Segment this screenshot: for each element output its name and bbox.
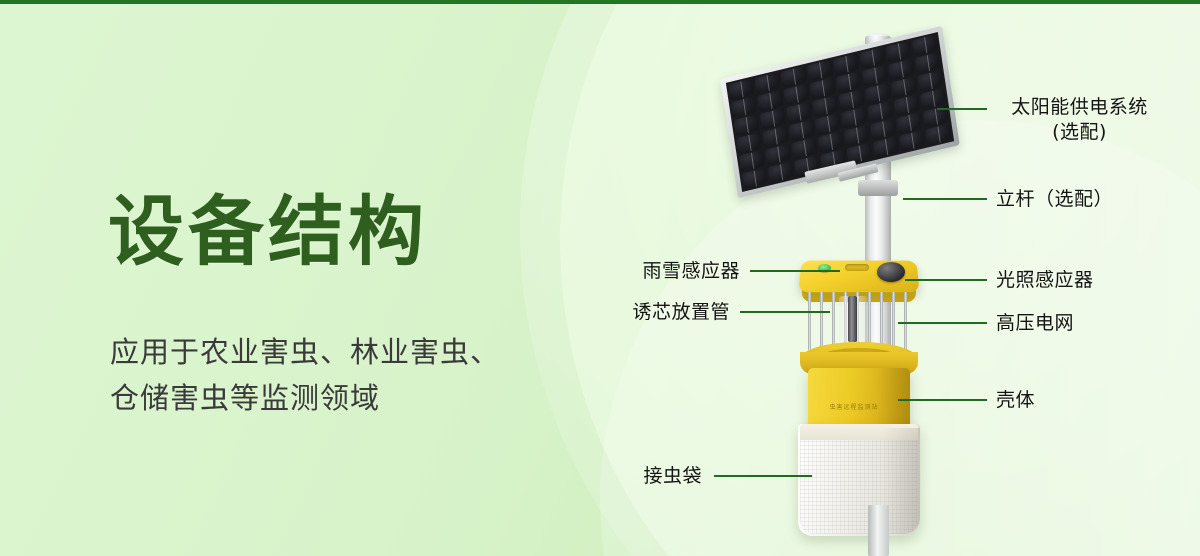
- subtitle-line-2: 仓储害虫等监测领域: [110, 376, 580, 422]
- subtitle-line-1: 应用于农业害虫、林业害虫、: [110, 330, 580, 376]
- light-sensor-icon: [877, 262, 905, 282]
- housing-marking-text: 虫害远程监测站: [815, 402, 893, 411]
- solar-panel-clamp: [858, 180, 898, 196]
- cap-handle: [845, 264, 869, 271]
- top-accent-bar: [0, 0, 1200, 4]
- page-subtitle: 应用于农业害虫、林业害虫、 仓储害虫等监测领域: [110, 330, 580, 422]
- solar-cell: [899, 130, 926, 152]
- pole-lower-section: [868, 505, 889, 556]
- product-structure-banner: 设备结构 应用于农业害虫、林业害虫、 仓储害虫等监测领域 虫害远程监测站: [0, 0, 1200, 556]
- leader-line-light-sensor: [905, 279, 987, 281]
- leader-line-solar: [937, 108, 987, 110]
- leader-line-lure-tube: [740, 311, 830, 313]
- lure-core-tube-shape: [848, 296, 857, 342]
- callout-label-grid: 高压电网: [996, 311, 1074, 336]
- callout-label-housing: 壳体: [996, 388, 1035, 413]
- solar-cell: [768, 162, 795, 184]
- callout-label-rain-sensor: 雨雪感应器: [612, 259, 740, 284]
- page-title: 设备结构: [108, 193, 428, 271]
- callout-label-pole: 立杆（选配）: [996, 187, 1113, 212]
- leader-line-rain-sensor: [750, 270, 840, 272]
- callout-label-solar: 太阳能供电系统 (选配): [992, 95, 1167, 145]
- grid-rod: [904, 292, 907, 350]
- solar-cell: [741, 168, 768, 190]
- leader-line-housing: [898, 399, 987, 401]
- grid-rod: [808, 292, 811, 350]
- leader-line-collection-bag: [714, 475, 812, 477]
- callout-label-collection-bag: 接虫袋: [588, 464, 702, 489]
- solar-cell: [925, 124, 952, 146]
- leader-line-pole: [903, 198, 987, 200]
- callout-label-light-sensor: 光照感应器: [996, 268, 1094, 293]
- solar-cell: [873, 136, 900, 158]
- leader-line-grid: [898, 322, 987, 324]
- callout-label-lure-tube: 诱芯放置管: [612, 300, 730, 325]
